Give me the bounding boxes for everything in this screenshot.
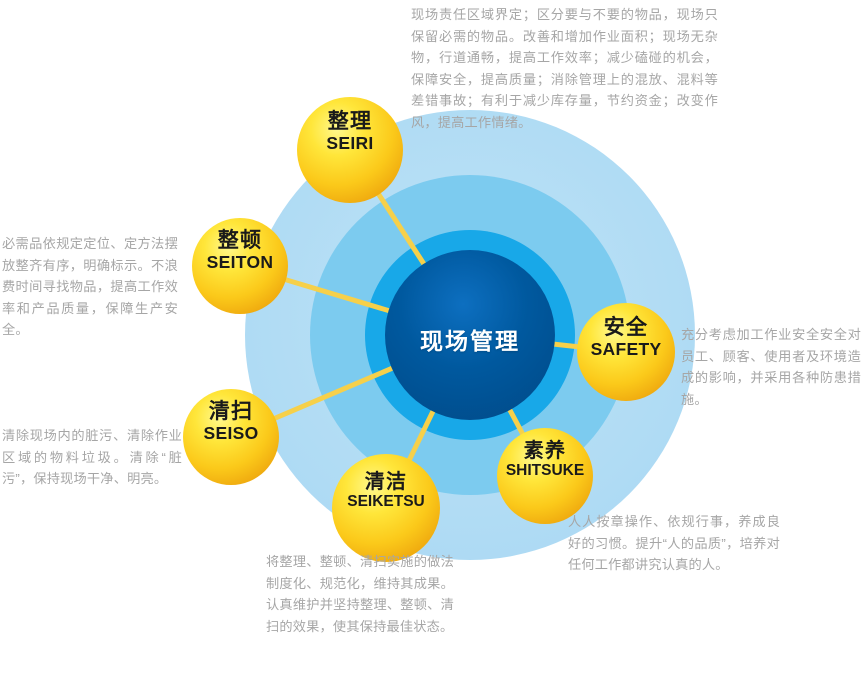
- description-shitsuke: 人人按章操作、依规行事，养成良好的习惯。提升“人的品质”，培养对任何工作都讲究认…: [568, 511, 780, 576]
- node-circle-seiton[interactable]: [192, 218, 288, 314]
- center-core-circle: [385, 250, 555, 420]
- description-seiri: 现场责任区域界定；区分要与不要的物品，现场只保留必需的物品。改善和增加作业面积；…: [411, 4, 718, 133]
- node-circle-seiri[interactable]: [297, 97, 403, 203]
- description-seiketsu: 将整理、整顿、清扫实施的做法制度化、规范化，维持其成果。认真维护并坚持整理、整顿…: [266, 551, 454, 637]
- node-circle-safety[interactable]: [577, 303, 675, 401]
- node-circle-seiso[interactable]: [183, 389, 279, 485]
- node-circle-shitsuke[interactable]: [497, 428, 593, 524]
- description-safety: 充分考虑加工作业安全安全对员工、顾客、使用者及环境造成的影响，并采用各种防患措施…: [681, 324, 861, 410]
- 5s-management-diagram: 现场管理 整理 SEIRI 整顿 SEITON 清扫 SEISO 清洁 SEIK…: [0, 0, 863, 675]
- description-seiso: 清除现场内的脏污、清除作业区域的物料垃圾。清除“脏污”，保持现场干净、明亮。: [2, 425, 182, 490]
- description-seiton: 必需品依规定定位、定方法摆放整齐有序，明确标示。不浪费时间寻找物品，提高工作效率…: [2, 233, 178, 341]
- node-circle-seiketsu[interactable]: [332, 454, 440, 562]
